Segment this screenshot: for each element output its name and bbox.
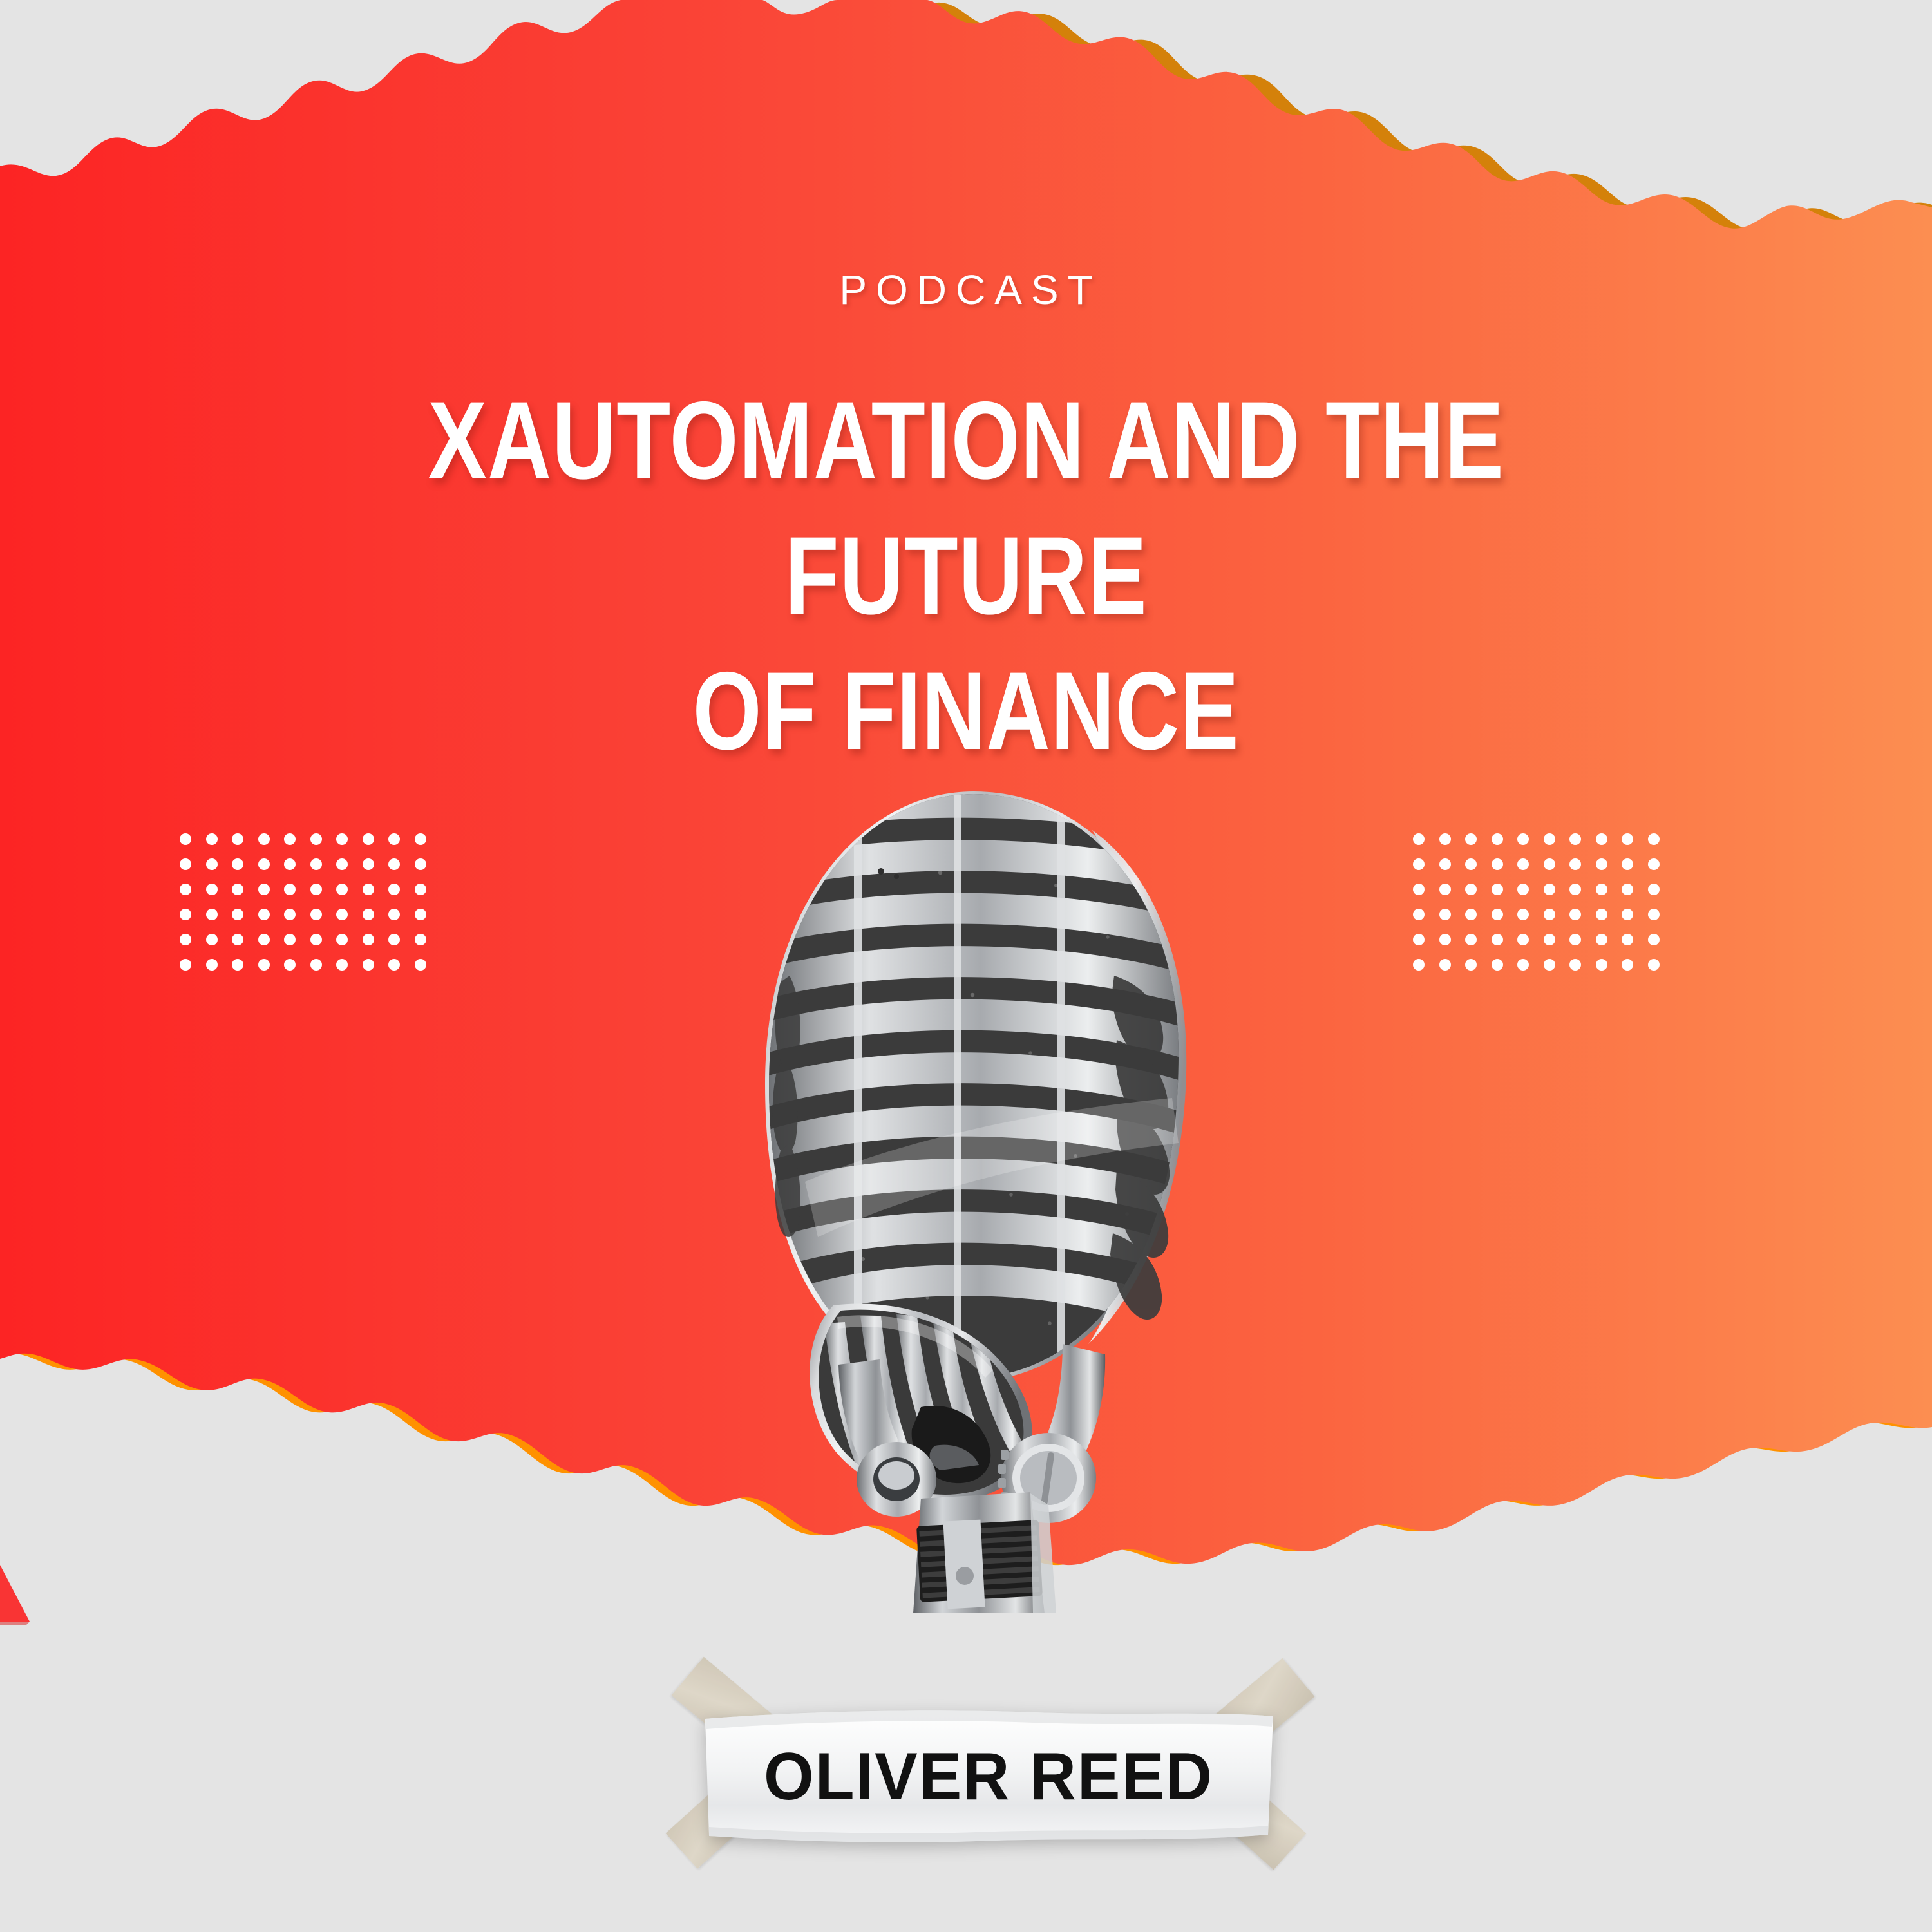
dot: [336, 959, 348, 971]
dot: [1596, 959, 1607, 971]
dot: [232, 959, 243, 971]
dot: [1622, 884, 1633, 895]
dot: [336, 858, 348, 870]
dot: [206, 884, 218, 895]
dot: [1648, 884, 1660, 895]
dot: [284, 858, 296, 870]
dot: [388, 959, 400, 971]
dot: [258, 858, 270, 870]
dot: [232, 833, 243, 845]
dot: [1439, 909, 1451, 920]
dot: [1569, 934, 1581, 945]
dot: [1439, 959, 1451, 971]
dot: [1465, 833, 1477, 845]
dot: [415, 884, 426, 895]
dot: [1544, 833, 1555, 845]
dot: [232, 934, 243, 945]
dot: [415, 833, 426, 845]
host-name-text: OLIVER REED: [710, 1743, 1267, 1810]
dot: [388, 884, 400, 895]
dot: [1517, 909, 1529, 920]
dot: [310, 858, 322, 870]
dot: [1569, 959, 1581, 971]
dot: [232, 884, 243, 895]
microphone-image: [728, 782, 1217, 1613]
dot: [1648, 934, 1660, 945]
dot: [1622, 909, 1633, 920]
dot: [1439, 934, 1451, 945]
host-name-badge: OLIVER REED: [699, 1703, 1278, 1851]
dot: [310, 934, 322, 945]
dot: [363, 884, 374, 895]
dot: [232, 858, 243, 870]
dot: [1622, 959, 1633, 971]
dot: [1413, 884, 1425, 895]
dot: [258, 884, 270, 895]
dot: [284, 884, 296, 895]
dot: [284, 909, 296, 920]
dot: [1648, 909, 1660, 920]
dot: [1492, 884, 1503, 895]
dot: [1544, 909, 1555, 920]
dot: [388, 909, 400, 920]
dot-grid-left: [173, 826, 433, 977]
dot: [363, 833, 374, 845]
dot: [1413, 909, 1425, 920]
dot: [284, 959, 296, 971]
dot: [1492, 959, 1503, 971]
dot: [310, 884, 322, 895]
dot: [1492, 858, 1503, 870]
dot: [1465, 858, 1477, 870]
dot: [415, 909, 426, 920]
dot: [388, 934, 400, 945]
red-triangle-fragment: [0, 1558, 77, 1629]
dot: [1648, 959, 1660, 971]
dot: [1569, 858, 1581, 870]
dot: [206, 909, 218, 920]
dot: [1569, 884, 1581, 895]
dot: [258, 909, 270, 920]
dot: [258, 934, 270, 945]
dot: [336, 934, 348, 945]
dot: [1413, 833, 1425, 845]
dot: [206, 959, 218, 971]
dot: [284, 833, 296, 845]
dot: [363, 858, 374, 870]
dot: [310, 959, 322, 971]
dot: [310, 909, 322, 920]
dot: [363, 934, 374, 945]
page-title: XAUTOMATION AND THE FUTURE OF FINANCE: [327, 374, 1605, 779]
dot: [363, 909, 374, 920]
dot: [363, 959, 374, 971]
dot: [1492, 833, 1503, 845]
dot: [1439, 833, 1451, 845]
dot: [1517, 959, 1529, 971]
dot: [1439, 858, 1451, 870]
podcast-cover-artwork: PODCAST XAUTOMATION AND THE FUTURE OF FI…: [0, 0, 1932, 1932]
dot: [415, 934, 426, 945]
dot: [232, 909, 243, 920]
dot: [1544, 884, 1555, 895]
dot: [415, 959, 426, 971]
dot: [258, 833, 270, 845]
dot: [1413, 858, 1425, 870]
dot: [180, 934, 191, 945]
dot: [1492, 934, 1503, 945]
dot: [180, 858, 191, 870]
dot: [1517, 934, 1529, 945]
dot: [206, 858, 218, 870]
dot: [1517, 833, 1529, 845]
dot: [336, 884, 348, 895]
dot: [310, 833, 322, 845]
dot: [415, 858, 426, 870]
dot: [180, 959, 191, 971]
dot: [1622, 833, 1633, 845]
dot: [284, 934, 296, 945]
dot: [1492, 909, 1503, 920]
dot: [206, 934, 218, 945]
dot: [336, 833, 348, 845]
dot: [180, 833, 191, 845]
dot: [1622, 858, 1633, 870]
dot: [1465, 909, 1477, 920]
dot: [1544, 934, 1555, 945]
dot: [1596, 833, 1607, 845]
dot: [1622, 934, 1633, 945]
dot: [1596, 884, 1607, 895]
dot: [1569, 833, 1581, 845]
dot: [1569, 909, 1581, 920]
dot: [1413, 934, 1425, 945]
dot: [258, 959, 270, 971]
dot: [1465, 959, 1477, 971]
dot: [1596, 858, 1607, 870]
dot: [1596, 909, 1607, 920]
dot: [1596, 934, 1607, 945]
dot: [1465, 884, 1477, 895]
podcast-kicker-label: PODCAST: [0, 269, 1932, 310]
dot: [336, 909, 348, 920]
dot: [206, 833, 218, 845]
dot: [388, 858, 400, 870]
dot: [1413, 959, 1425, 971]
dot: [1517, 884, 1529, 895]
dot: [1465, 934, 1477, 945]
dot: [1648, 858, 1660, 870]
dot: [1544, 959, 1555, 971]
dot-grid-right: [1406, 826, 1667, 977]
dot: [1648, 833, 1660, 845]
dot: [1517, 858, 1529, 870]
dot: [180, 909, 191, 920]
dot: [388, 833, 400, 845]
dot: [1544, 858, 1555, 870]
dot: [1439, 884, 1451, 895]
dot: [180, 884, 191, 895]
